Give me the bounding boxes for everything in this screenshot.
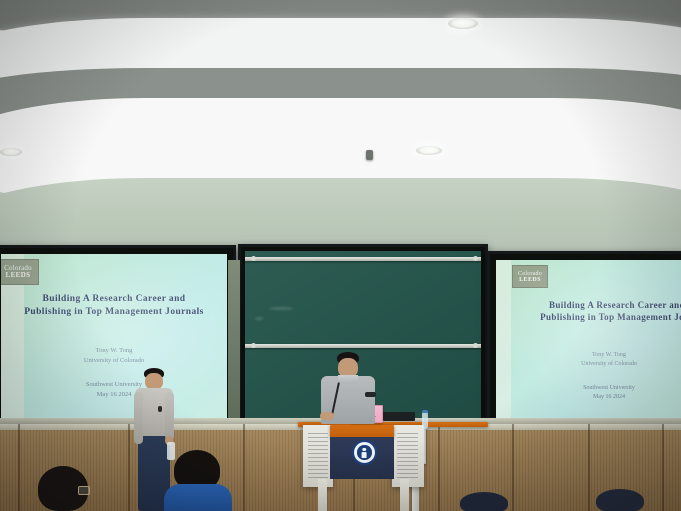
chalk-smudge bbox=[269, 307, 293, 310]
wainscot-seam bbox=[18, 424, 20, 511]
slide-right-margin bbox=[496, 260, 511, 422]
slide-right-host-institution: Southwest University bbox=[522, 385, 681, 391]
slide-right-presenter-affiliation: University of Colorado bbox=[522, 361, 681, 367]
water-bottle-on-ledge bbox=[422, 412, 428, 429]
side-cabinet-left bbox=[228, 260, 240, 420]
slide-date: May 16 2024 bbox=[1, 391, 227, 398]
colorado-leeds-logo: Colorado LEEDS bbox=[1, 259, 39, 285]
downlight-icon bbox=[0, 148, 22, 156]
downlight-icon bbox=[416, 146, 442, 155]
logo-bottom-word: LEEDS bbox=[519, 277, 541, 283]
emblem-figure-icon bbox=[357, 445, 371, 459]
wainscot-seam bbox=[243, 424, 245, 511]
speaker-collar bbox=[338, 375, 358, 384]
podium-left-inscription bbox=[308, 432, 328, 478]
slide-title-line-2: Publishing in Top Management Journals bbox=[1, 307, 227, 317]
audience-shirt bbox=[164, 484, 232, 511]
speaker-sleeve-stripe bbox=[365, 392, 376, 397]
lapel-microphone bbox=[158, 406, 162, 412]
slide-right-title-line-2: Publishing in Top Management Jour bbox=[522, 312, 681, 322]
ceiling-sensor-icon bbox=[366, 150, 373, 160]
slide-right: Colorado LEEDS Building A Research Caree… bbox=[496, 260, 681, 422]
water-bottle-cap-icon bbox=[422, 410, 428, 413]
speaker-at-podium bbox=[316, 352, 380, 424]
university-emblem bbox=[352, 440, 377, 465]
audience-member-front-center bbox=[168, 450, 228, 511]
wainscot-seam bbox=[128, 424, 130, 511]
audience-hair bbox=[596, 489, 644, 511]
speaker-hand bbox=[320, 412, 334, 420]
eyeglasses-icon bbox=[78, 486, 90, 495]
slide-right-title-line-1: Building A Research Career and bbox=[522, 300, 681, 310]
laptop-on-podium bbox=[383, 412, 415, 421]
audience-member-front-right-2 bbox=[596, 489, 644, 511]
chalkboard-rail-top bbox=[245, 257, 481, 261]
slide-right-date: May 16 2024 bbox=[522, 394, 681, 400]
audience-hair bbox=[460, 492, 508, 511]
wainscot-seam bbox=[588, 424, 590, 511]
slide-presenter-affiliation: University of Colorado bbox=[1, 357, 227, 364]
chalkboard-knob bbox=[251, 343, 256, 348]
podium-base-pillar bbox=[400, 479, 409, 511]
wainscot-seam bbox=[512, 424, 514, 511]
lecture-hall-photo: Colorado LEEDS Building A Research Caree… bbox=[0, 0, 681, 511]
projection-screen-right: Colorado LEEDS Building A Research Caree… bbox=[487, 251, 681, 431]
standing-man-right-arm bbox=[165, 392, 174, 440]
chalkboard-knob bbox=[473, 256, 478, 261]
logo-bottom-word: LEEDS bbox=[6, 272, 31, 279]
chalkboard-knob bbox=[473, 343, 478, 348]
chalkboard-knob bbox=[251, 256, 256, 261]
wainscot-seam bbox=[438, 424, 440, 511]
slide-left: Colorado LEEDS Building A Research Caree… bbox=[1, 254, 227, 422]
podium-right-inscription bbox=[397, 432, 418, 478]
wainscot-seam bbox=[662, 424, 664, 511]
slide-title-line-1: Building A Research Career and bbox=[1, 294, 227, 304]
slide-right-presenter-name: Tony W. Tong bbox=[522, 352, 681, 358]
audience-member-front-right-1 bbox=[460, 492, 508, 511]
slide-host-institution: Southwest University bbox=[1, 381, 227, 388]
colorado-leeds-logo: Colorado LEEDS bbox=[512, 265, 548, 288]
ceiling bbox=[0, 0, 681, 250]
podium-base-pillar bbox=[318, 479, 327, 511]
audience-member-front-left bbox=[34, 466, 96, 511]
projection-screen-left: Colorado LEEDS Building A Research Caree… bbox=[0, 245, 236, 431]
chalk-smudge bbox=[255, 317, 263, 320]
chalkboard-rail-middle bbox=[245, 344, 481, 348]
standing-man-left-arm bbox=[134, 392, 143, 444]
slide-presenter-name: Tony W. Tong bbox=[1, 347, 227, 354]
downlight-icon bbox=[448, 18, 478, 29]
